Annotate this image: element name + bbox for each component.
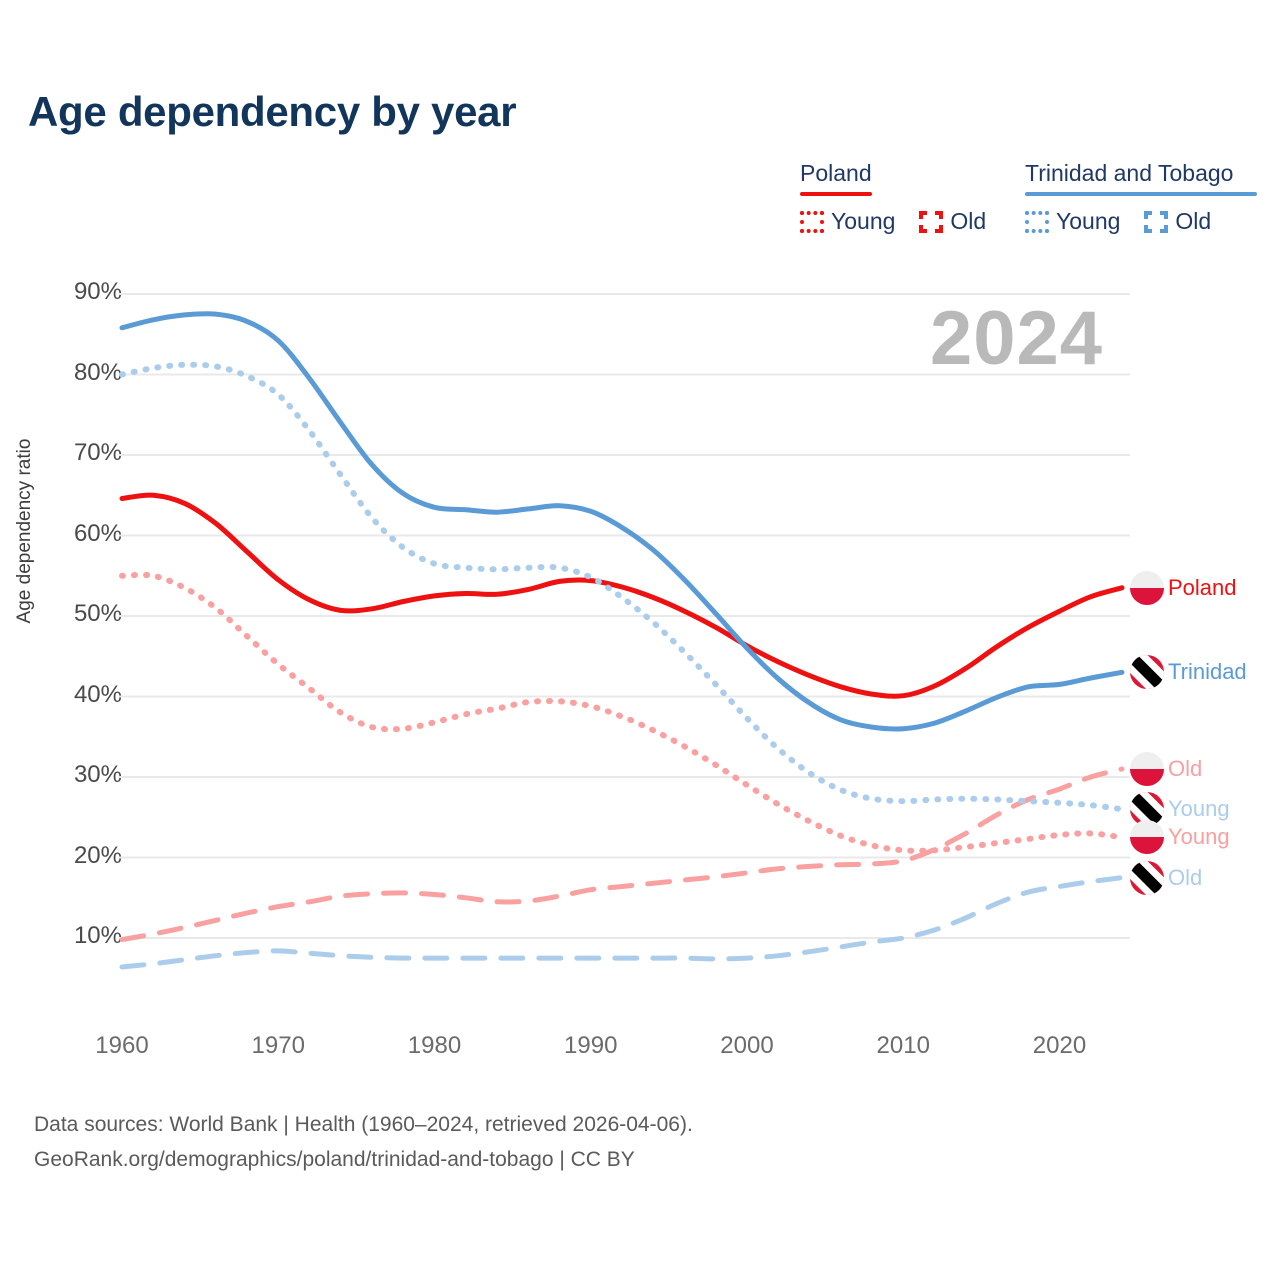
poland-flag-icon	[1130, 571, 1164, 605]
trinidad-and-tobago-flag-icon	[1130, 861, 1164, 895]
series-end-label: Old	[1130, 861, 1202, 895]
series-end-label-text: Young	[1168, 796, 1230, 822]
trinidad-and-tobago-flag-icon	[1130, 655, 1164, 689]
poland-flag-icon	[1130, 820, 1164, 854]
series-end-label: Poland	[1130, 571, 1237, 605]
series-end-label-text: Old	[1168, 756, 1202, 782]
series-end-label-text: Trinidad	[1168, 659, 1247, 685]
footer: Data sources: World Bank | Health (1960–…	[34, 1108, 693, 1177]
flag-band	[1130, 655, 1164, 689]
series-end-label: Old	[1130, 752, 1202, 786]
series-end-label: Young	[1130, 820, 1230, 854]
footer-line-2: GeoRank.org/demographics/poland/trinidad…	[34, 1143, 693, 1178]
series-end-label-text: Old	[1168, 865, 1202, 891]
chart-svg	[0, 0, 1280, 1280]
series-line	[122, 878, 1122, 967]
footer-line-1: Data sources: World Bank | Health (1960–…	[34, 1108, 693, 1143]
flag-band	[1130, 861, 1164, 895]
series-end-label-text: Poland	[1168, 575, 1237, 601]
poland-flag-icon	[1130, 752, 1164, 786]
chart-container: Age dependency by year Poland Young Old …	[0, 0, 1280, 1280]
series-end-label: Trinidad	[1130, 655, 1247, 689]
plot-area: Age dependency ratio 10%20%30%40%50%60%7…	[0, 0, 1280, 1280]
series-end-label-text: Young	[1168, 824, 1230, 850]
